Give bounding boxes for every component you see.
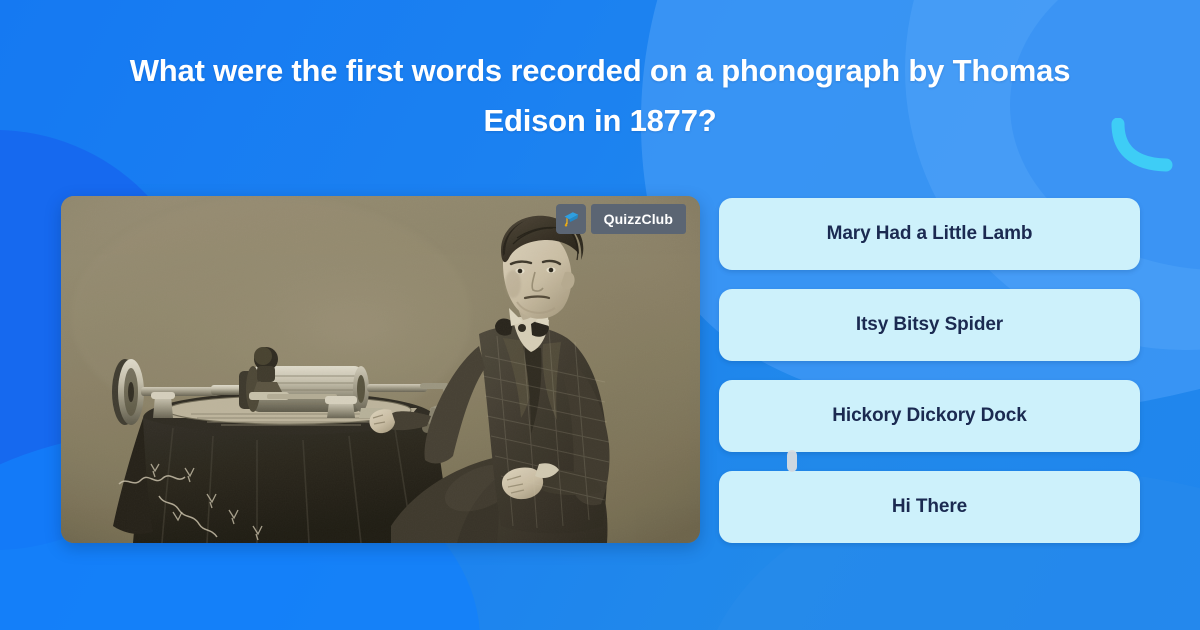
answer-option-4[interactable]: Hi There bbox=[719, 471, 1140, 543]
answer-option-4-label: Hi There bbox=[892, 496, 967, 518]
answer-option-2-label: Itsy Bitsy Spider bbox=[856, 314, 1003, 336]
page-title: What were the first words recorded on a … bbox=[60, 46, 1140, 146]
answer-option-1-label: Mary Had a Little Lamb bbox=[827, 223, 1033, 245]
watermark-logo-badge bbox=[556, 204, 586, 234]
watermark: QuizzClub bbox=[556, 204, 686, 234]
text-caret-cursor bbox=[787, 450, 797, 472]
answer-options-list: Mary Had a Little Lamb Itsy Bitsy Spider… bbox=[719, 198, 1140, 543]
watermark-brand-label: QuizzClub bbox=[591, 204, 686, 234]
answer-option-2[interactable]: Itsy Bitsy Spider bbox=[719, 289, 1140, 361]
edison-phonograph-photo bbox=[61, 196, 700, 543]
answer-option-1[interactable]: Mary Had a Little Lamb bbox=[719, 198, 1140, 270]
question-card-stage: What were the first words recorded on a … bbox=[0, 0, 1200, 630]
answer-option-3[interactable]: Hickory Dickory Dock bbox=[719, 380, 1140, 452]
question-image-card: QuizzClub bbox=[61, 196, 700, 543]
graduation-cap-icon bbox=[561, 209, 581, 229]
answer-option-3-label: Hickory Dickory Dock bbox=[832, 405, 1026, 427]
